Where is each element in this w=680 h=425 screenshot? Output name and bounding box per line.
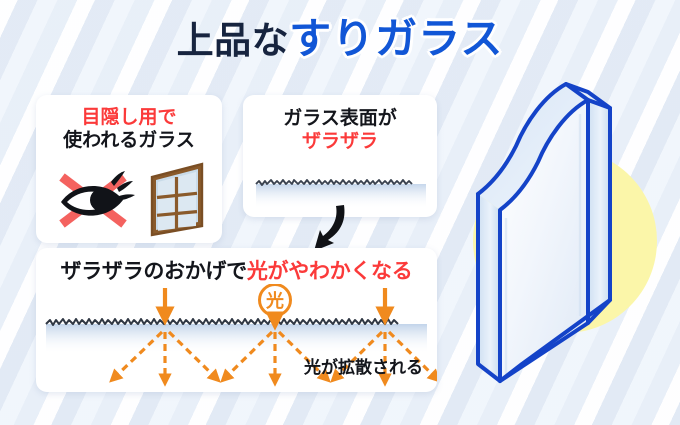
blocked-eye-icon bbox=[53, 169, 139, 231]
frosted-glass-pane bbox=[440, 78, 680, 418]
title-accent: すりガラス bbox=[289, 15, 503, 62]
soft-card-heading: ザラザラのおかげで光がやわかくなる bbox=[36, 259, 437, 285]
soft-light-card: ザラザラのおかげで光がやわかくなる bbox=[36, 248, 437, 392]
window-icon bbox=[146, 161, 208, 237]
rough-heading-red: ザラザラ bbox=[302, 131, 378, 152]
privacy-heading-black: 使われるガラス bbox=[63, 130, 195, 151]
rough-surface-card: ガラス表面が ザラザラ bbox=[243, 95, 437, 217]
svg-text:光: 光 bbox=[265, 290, 284, 311]
privacy-icon-row bbox=[36, 167, 222, 239]
rough-heading-black: ガラス表面が bbox=[283, 108, 397, 129]
title-plain: 上品な bbox=[177, 20, 290, 61]
soft-heading-black: ザラザラのおかげで bbox=[61, 260, 247, 283]
privacy-card-heading: 目隠し用で 使われるガラス bbox=[36, 106, 222, 152]
privacy-heading-red: 目隠し用で bbox=[81, 107, 176, 128]
privacy-card: 目隠し用で 使われるガラス bbox=[36, 95, 222, 243]
soft-heading-red: 光がやわかくなる bbox=[247, 260, 413, 283]
light-badge: 光 bbox=[260, 285, 291, 316]
page-title: 上品なすりガラス bbox=[0, 18, 680, 60]
infographic-canvas: 上品なすりガラス 目隠し用で 使われるガラス bbox=[0, 0, 680, 425]
diffusion-caption: 光が拡散される bbox=[304, 353, 423, 378]
rough-card-heading: ガラス表面が ザラザラ bbox=[243, 107, 437, 153]
